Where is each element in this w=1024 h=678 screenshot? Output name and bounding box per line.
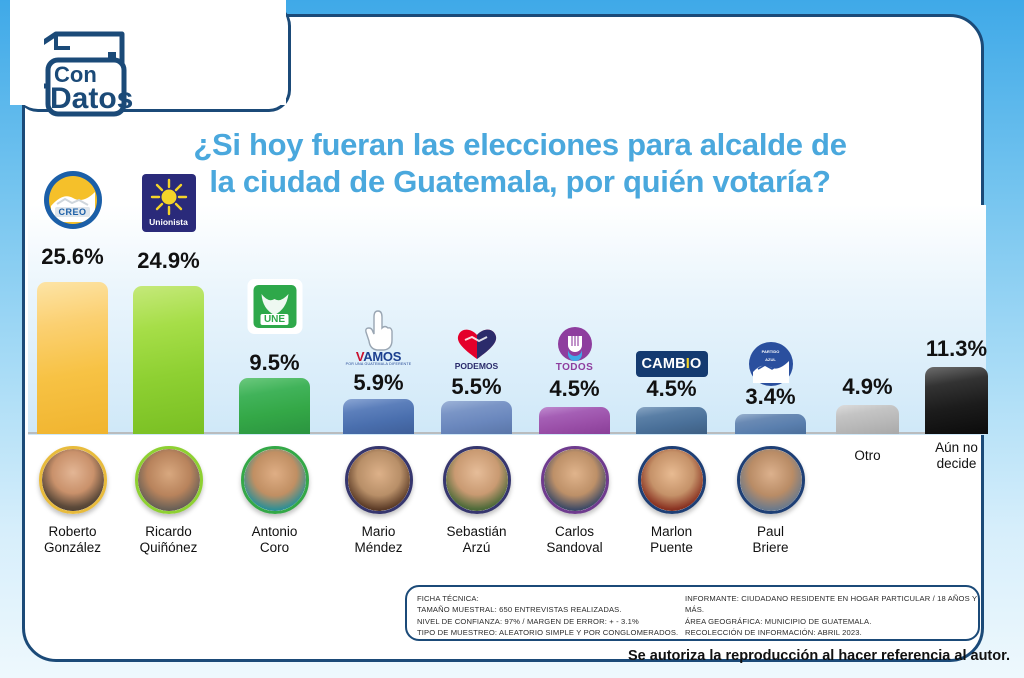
candidate-name-line1: Marlon: [651, 524, 692, 539]
bar-value-5: 4.5%: [549, 376, 599, 402]
candidate-2[interactable]: Antonio Coro: [232, 436, 317, 556]
candidate-name-line2: Sandoval: [546, 540, 602, 555]
candidate-name: Antonio Coro: [232, 524, 317, 556]
avatar: [39, 446, 107, 514]
bar-value-1: 24.9%: [137, 248, 199, 274]
bar-group-6[interactable]: CAMBIO CAMBIO 4.5%: [636, 0, 707, 434]
candidate-name-line1: Ricardo: [145, 524, 192, 539]
candidate-name-line1: Carlos: [555, 524, 594, 539]
candidate-4[interactable]: Sebastián Arzú: [434, 436, 519, 556]
candidate-5[interactable]: Carlos Sandoval: [532, 436, 617, 556]
candidate-name-line1: Paul: [757, 524, 784, 539]
credit-line: Se autoriza la reproducción al hacer ref…: [0, 648, 1010, 664]
bar-group-0[interactable]: CREO 25.6%: [37, 0, 108, 434]
candidate-name: Sebastián Arzú: [434, 524, 519, 556]
bar-group-8[interactable]: 4.9%: [836, 0, 899, 434]
candidate-name-line1: Antonio: [252, 524, 298, 539]
avatar: [737, 446, 805, 514]
bar-4[interactable]: [441, 401, 512, 434]
bar-group-7[interactable]: PARTIDO AZUL 3.4%: [735, 0, 806, 434]
bar-1[interactable]: [133, 286, 204, 434]
bar-group-3[interactable]: VVAMOSAMOS POR UNA GUATEMALA DIFERENTE 5…: [343, 0, 414, 434]
category-label-aun-line2: decide: [937, 456, 977, 471]
candidate-name: Roberto González: [30, 524, 115, 556]
extra-bar-value-0: 4.9%: [842, 374, 892, 400]
podemos-logo: PODEMOS: [444, 326, 510, 371]
bars-layer: CREO 25.6%: [0, 0, 1024, 434]
podemos-wordmark: PODEMOS: [444, 361, 510, 371]
tech-right-1: ÁREA GEOGRÁFICA: MUNICIPIO DE GUATEMALA.: [685, 616, 978, 627]
avatar: [638, 446, 706, 514]
vamos-logo: VVAMOSAMOS POR UNA GUATEMALA DIFERENTE: [346, 309, 412, 366]
extra-bar-1[interactable]: [925, 367, 988, 434]
candidate-name-line1: Mario: [362, 524, 396, 539]
extra-bar-0[interactable]: [836, 405, 899, 434]
extra-bar-value-1: 11.3%: [926, 336, 987, 362]
candidate-name-line2: Briere: [752, 540, 788, 555]
une-wordmark: UNE: [261, 314, 288, 325]
todos-logo: TODOS: [542, 327, 608, 373]
candidate-name-line2: Puente: [650, 540, 693, 555]
bar-group-4[interactable]: PODEMOS 5.5%: [441, 0, 512, 434]
candidate-name: Ricardo Quiñónez: [126, 524, 211, 556]
partido-azul-logo: PARTIDO AZUL: [749, 342, 793, 386]
bar-0[interactable]: [37, 282, 108, 434]
tech-right-2: RECOLECCIÓN DE INFORMACIÓN: ABRIL 2023.: [685, 627, 978, 638]
infographic-canvas: Con Datos ¿Si hoy fueran las elecciones …: [0, 0, 1024, 678]
cambio-logo: CAMBIO CAMBIO: [636, 351, 708, 377]
bar-value-0: 25.6%: [41, 244, 103, 270]
bar-2[interactable]: [239, 378, 310, 434]
candidate-6[interactable]: Marlon Puente: [629, 436, 714, 556]
tech-left-0: FICHA TÉCNICA:: [417, 593, 678, 604]
candidate-name: Paul Briere: [728, 524, 813, 556]
candidate-3[interactable]: Mario Méndez: [336, 436, 421, 556]
candidate-name-line1: Roberto: [48, 524, 96, 539]
azul-wordmark-l2: AZUL: [765, 357, 776, 362]
bar-value-4: 5.5%: [451, 374, 501, 400]
avatar: [241, 446, 309, 514]
bar-group-2[interactable]: UNE 9.5%: [239, 0, 310, 434]
bar-5[interactable]: [539, 407, 610, 434]
candidate-7[interactable]: Paul Briere: [728, 436, 813, 556]
tech-right-0: INFORMANTE: CIUDADANO RESIDENTE EN HOGAR…: [685, 593, 978, 616]
bar-value-2: 9.5%: [249, 350, 299, 376]
vamos-subtitle: POR UNA GUATEMALA DIFERENTE: [346, 362, 412, 366]
bar-group-1[interactable]: Unionista 24.9%: [133, 0, 204, 434]
candidate-row: Roberto González Ricardo Quiñónez Antoni…: [0, 436, 1024, 576]
bar-group-9[interactable]: 11.3%: [925, 0, 988, 434]
creo-logo: CREO: [44, 171, 102, 229]
technical-left-column: FICHA TÉCNICA: TAMAÑO MUESTRAL: 650 ENTR…: [417, 593, 678, 639]
candidate-name: Mario Méndez: [336, 524, 421, 556]
candidate-name-line2: Quiñónez: [140, 540, 198, 555]
avatar: [541, 446, 609, 514]
bar-value-6: 4.5%: [646, 376, 696, 402]
candidate-name-line2: Coro: [260, 540, 289, 555]
tech-left-3: TIPO DE MUESTREO: ALEATORIO SIMPLE Y POR…: [417, 627, 678, 638]
candidate-1[interactable]: Ricardo Quiñónez: [126, 436, 211, 556]
avatar: [135, 446, 203, 514]
category-label-aun-no-decide: Aún no decide: [914, 440, 999, 472]
candidate-name-line2: Méndez: [354, 540, 402, 555]
candidate-name-line2: González: [44, 540, 101, 555]
creo-wordmark: CREO: [55, 207, 89, 217]
azul-wordmark-l1: PARTIDO: [762, 349, 780, 354]
une-logo: UNE: [247, 279, 302, 334]
category-label-otro: Otro: [825, 448, 910, 464]
technical-data-box: FICHA TÉCNICA: TAMAÑO MUESTRAL: 650 ENTR…: [405, 585, 980, 641]
tech-left-1: TAMAÑO MUESTRAL: 650 ENTREVISTAS REALIZA…: [417, 604, 678, 615]
category-label-otro-line1: Otro: [854, 448, 880, 463]
category-label-aun-line1: Aún no: [935, 440, 978, 455]
avatar: [443, 446, 511, 514]
technical-right-column: INFORMANTE: CIUDADANO RESIDENTE EN HOGAR…: [685, 593, 978, 639]
avatar: [345, 446, 413, 514]
bar-7[interactable]: [735, 414, 806, 434]
bar-value-7: 3.4%: [745, 384, 795, 410]
candidate-name-line1: Sebastián: [446, 524, 506, 539]
bar-3[interactable]: [343, 399, 414, 434]
tech-left-2: NIVEL DE CONFIANZA: 97% / MARGEN DE ERRO…: [417, 616, 678, 627]
bar-6[interactable]: [636, 407, 707, 434]
todos-wordmark: TODOS: [542, 362, 608, 373]
candidate-name: Marlon Puente: [629, 524, 714, 556]
bar-value-3: 5.9%: [353, 370, 403, 396]
candidate-0[interactable]: Roberto González: [30, 436, 115, 556]
candidate-name-line2: Arzú: [463, 540, 491, 555]
unionista-wordmark: Unionista: [149, 217, 188, 227]
unionista-logo: Unionista: [142, 174, 196, 232]
candidate-name: Carlos Sandoval: [532, 524, 617, 556]
bar-group-5[interactable]: TODOS 4.5%: [539, 0, 610, 434]
